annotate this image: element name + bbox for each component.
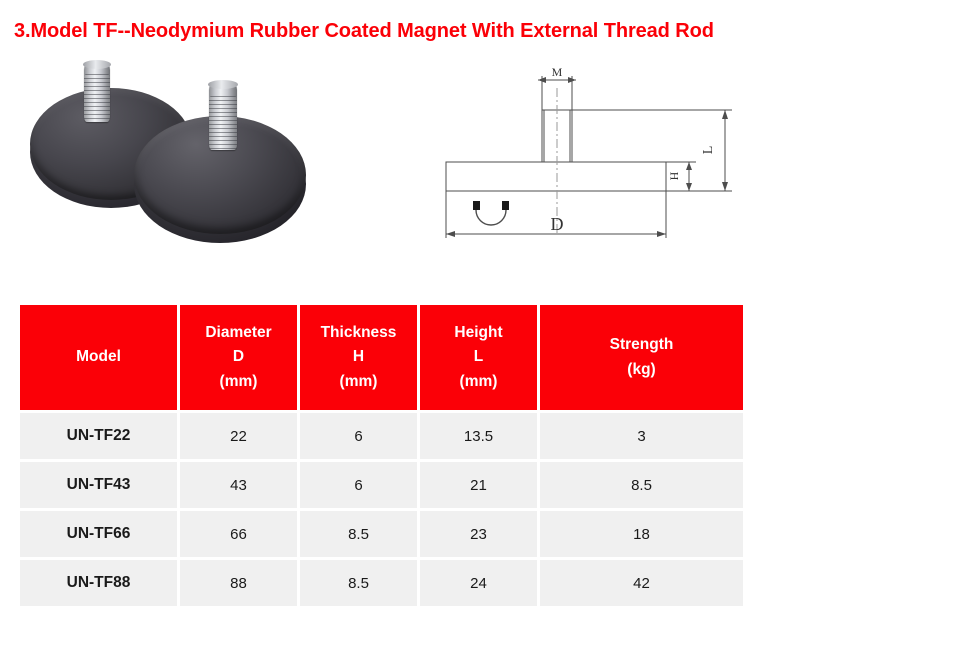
cell-diameter: 88 bbox=[180, 560, 297, 606]
cell-strength: 42 bbox=[540, 560, 743, 606]
cell-thickness: 6 bbox=[300, 462, 417, 508]
table-row: UN-TF88 88 8.5 24 42 bbox=[20, 560, 743, 606]
cell-height: 13.5 bbox=[420, 413, 537, 459]
cell-diameter: 66 bbox=[180, 511, 297, 557]
column-header-height: Height L (mm) bbox=[420, 305, 537, 410]
dimension-label-d: D bbox=[551, 214, 564, 234]
cell-height: 21 bbox=[420, 462, 537, 508]
cell-diameter: 22 bbox=[180, 413, 297, 459]
spec-table: Model Diameter D (mm) Thickness H (mm) H… bbox=[20, 305, 743, 606]
stud-cap bbox=[208, 80, 238, 89]
column-header-thickness: Thickness H (mm) bbox=[300, 305, 417, 410]
column-header-strength: Strength (kg) bbox=[540, 305, 743, 410]
cell-model: UN-TF22 bbox=[20, 413, 177, 459]
cell-strength: 8.5 bbox=[540, 462, 743, 508]
table-row: UN-TF22 22 6 13.5 3 bbox=[20, 413, 743, 459]
stud-threads bbox=[209, 96, 237, 150]
column-header-diameter: Diameter D (mm) bbox=[180, 305, 297, 410]
dimension-label-h: H bbox=[667, 171, 681, 180]
cell-thickness: 8.5 bbox=[300, 511, 417, 557]
cell-model: UN-TF43 bbox=[20, 462, 177, 508]
product-photo bbox=[22, 72, 312, 260]
technical-drawing: M D H L bbox=[420, 58, 760, 258]
cell-strength: 3 bbox=[540, 413, 743, 459]
page-title: 3.Model TF--Neodymium Rubber Coated Magn… bbox=[14, 20, 714, 43]
product-spec-page: 3.Model TF--Neodymium Rubber Coated Magn… bbox=[0, 0, 960, 649]
cell-thickness: 8.5 bbox=[300, 560, 417, 606]
horseshoe-magnet-icon bbox=[473, 201, 509, 225]
stud-threads bbox=[84, 74, 110, 122]
cell-model: UN-TF88 bbox=[20, 560, 177, 606]
table-row: UN-TF66 66 8.5 23 18 bbox=[20, 511, 743, 557]
dimension-label-m: M bbox=[552, 65, 563, 79]
dimension-label-l: L bbox=[701, 146, 716, 155]
cell-height: 23 bbox=[420, 511, 537, 557]
cell-height: 24 bbox=[420, 560, 537, 606]
cell-model: UN-TF66 bbox=[20, 511, 177, 557]
stud-cap bbox=[83, 60, 111, 69]
threaded-stud-icon bbox=[209, 84, 237, 150]
cell-thickness: 6 bbox=[300, 413, 417, 459]
cell-strength: 18 bbox=[540, 511, 743, 557]
table-row: UN-TF43 43 6 21 8.5 bbox=[20, 462, 743, 508]
magnet-disc-front bbox=[134, 116, 306, 234]
column-header-model: Model bbox=[20, 305, 177, 410]
table-header-row: Model Diameter D (mm) Thickness H (mm) H… bbox=[20, 305, 743, 410]
cell-diameter: 43 bbox=[180, 462, 297, 508]
threaded-stud-icon bbox=[84, 64, 110, 122]
